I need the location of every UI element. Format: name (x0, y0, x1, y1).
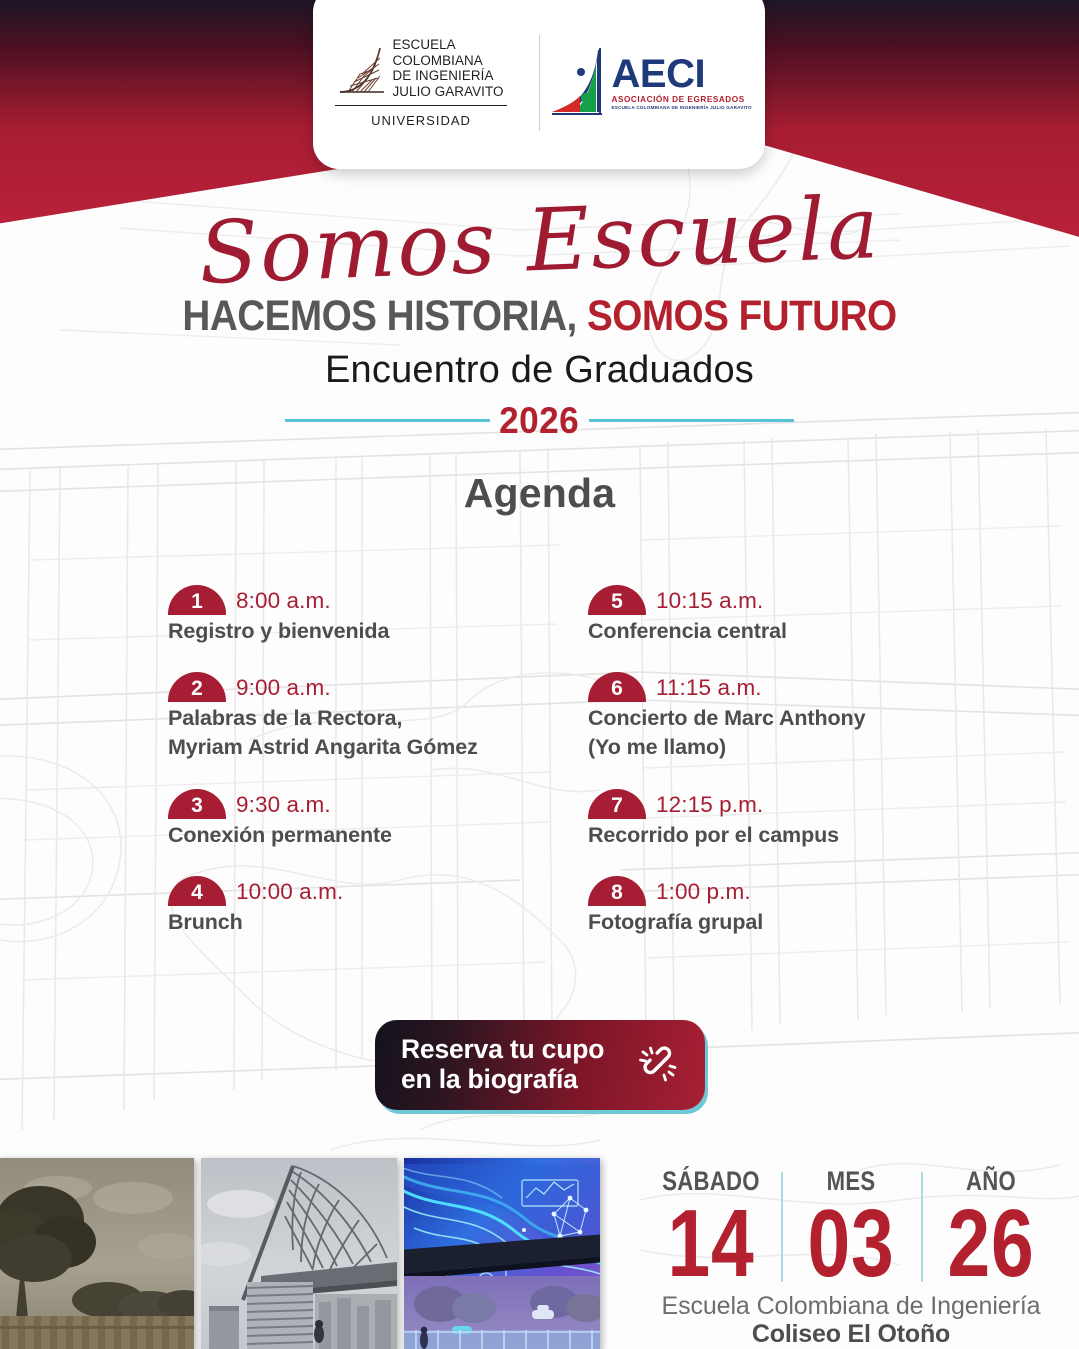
subtitle-grey: HACEMOS HISTORIA, (182, 292, 576, 340)
year-row: 2026 (0, 400, 1079, 442)
venue-line2: Coliseo El Otoño (641, 1320, 1061, 1349)
agenda-time: 1:00 p.m. (656, 879, 751, 906)
agenda-desc: Brunch (168, 909, 588, 935)
eci-curve-grid-icon (338, 44, 386, 100)
association-acronym: AECI (612, 54, 752, 94)
date-cell-month: MES 03 (781, 1168, 921, 1290)
link-chain-icon (639, 1042, 683, 1086)
agenda-item: 3 9:30 a.m. Conexión permanente (168, 789, 588, 848)
agenda-time: 10:15 a.m. (656, 588, 763, 615)
event-name: Encuentro de Graduados (0, 349, 1079, 392)
agenda-number-badge: 8 (588, 876, 646, 906)
aeci-figure-icon (550, 46, 608, 120)
university-line1: ESCUELA (392, 37, 503, 53)
cta-line1: Reserva tu cupo (401, 1034, 604, 1064)
agenda-heading: Agenda (0, 470, 1079, 517)
year-value: 2026 (493, 400, 586, 442)
association-sub2: ESCUELA COLOMBIANA DE INGENIERÍA JULIO G… (612, 106, 752, 111)
agenda-desc: Concierto de Marc Anthony (588, 705, 928, 731)
month-value: 03 (795, 1197, 907, 1290)
agenda-time: 8:00 a.m. (236, 588, 331, 615)
agenda-desc: Palabras de la Rectora, (168, 705, 588, 731)
university-line4: JULIO GARAVITO (392, 84, 503, 100)
agenda-number-badge: 7 (588, 789, 646, 819)
agenda-desc-2: Myriam Astrid Angarita Gómez (168, 734, 588, 760)
agenda-item: 6 11:15 a.m. Concierto de Marc Anthony (… (588, 672, 928, 760)
agenda-time: 10:00 a.m. (236, 879, 343, 906)
cta-line2: en la biografía (401, 1064, 604, 1094)
agenda-time: 9:00 a.m. (236, 675, 331, 702)
agenda-time: 11:15 a.m. (656, 675, 762, 702)
agenda-item: 2 9:00 a.m. Palabras de la Rectora, Myri… (168, 672, 588, 760)
agenda-time: 12:15 p.m. (656, 792, 763, 819)
agenda-item: 5 10:15 a.m. Conferencia central (588, 585, 928, 644)
date-cell-year: AÑO 26 (921, 1168, 1061, 1290)
agenda-number-badge: 4 (168, 876, 226, 906)
subtitle-line: HACEMOS HISTORIA, SOMOS FUTURO (54, 292, 1025, 341)
agenda-number-badge: 6 (588, 672, 646, 702)
modern-campus-building-photo (201, 1158, 397, 1349)
agenda-number-badge: 3 (168, 789, 226, 819)
date-cells: SÁBADO 14 MES 03 AÑO 26 (641, 1168, 1061, 1290)
agenda-item: 1 8:00 a.m. Registro y bienvenida (168, 585, 588, 644)
subtitle-red: SOMOS FUTURO (587, 292, 897, 340)
association-sub1: ASOCIACIÓN DE EGRESADOS (612, 96, 752, 104)
script-title: Somos Escuela (197, 185, 881, 299)
reserve-spot-button[interactable]: Reserva tu cupo en la biografía (375, 1020, 705, 1110)
agenda-item: 4 10:00 a.m. Brunch (168, 876, 588, 935)
day-value: 14 (655, 1197, 767, 1290)
agenda-number-badge: 1 (168, 585, 226, 615)
date-cell-day: SÁBADO 14 (641, 1168, 781, 1290)
agenda-grid: 1 8:00 a.m. Registro y bienvenida 2 9:00… (168, 585, 928, 963)
agenda-column-right: 5 10:15 a.m. Conferencia central 6 11:15… (588, 585, 928, 963)
cta-wrapper: Reserva tu cupo en la biografía (375, 1020, 705, 1110)
vintage-campus-tree-photo (0, 1158, 194, 1349)
logo-card: ESCUELA COLOMBIANA DE INGENIERÍA JULIO G… (313, 0, 765, 169)
agenda-desc-2: (Yo me llamo) (588, 734, 928, 760)
agenda-desc: Recorrido por el campus (588, 822, 928, 848)
university-logo: ESCUELA COLOMBIANA DE INGENIERÍA JULIO G… (314, 37, 529, 129)
futuristic-neon-campus-photo (404, 1158, 600, 1349)
year-line-left (285, 419, 490, 423)
year-value-bottom: 26 (935, 1197, 1047, 1290)
agenda-number-badge: 2 (168, 672, 226, 702)
agenda-number-badge: 5 (588, 585, 646, 615)
year-line-right (589, 419, 794, 423)
logo-divider (539, 35, 540, 131)
agenda-time: 9:30 a.m. (236, 792, 331, 819)
university-name: ESCUELA COLOMBIANA DE INGENIERÍA JULIO G… (392, 37, 503, 100)
headline-block: Somos Escuela HACEMOS HISTORIA, SOMOS FU… (0, 198, 1079, 517)
event-poster: ESCUELA COLOMBIANA DE INGENIERÍA JULIO G… (0, 0, 1079, 1349)
logo-rule (335, 105, 507, 106)
university-line3: DE INGENIERÍA (392, 68, 503, 84)
agenda-desc: Conferencia central (588, 618, 928, 644)
agenda-desc: Conexión permanente (168, 822, 588, 848)
photo-strip (0, 1158, 600, 1349)
agenda-item: 8 1:00 p.m. Fotografía grupal (588, 876, 928, 935)
event-date-block: SÁBADO 14 MES 03 AÑO 26 Escuela Colombia… (641, 1168, 1061, 1349)
agenda-desc: Registro y bienvenida (168, 618, 588, 644)
agenda-item: 7 12:15 p.m. Recorrido por el campus (588, 789, 928, 848)
university-tagline: UNIVERSIDAD (371, 113, 471, 128)
agenda-column-left: 1 8:00 a.m. Registro y bienvenida 2 9:00… (168, 585, 588, 963)
association-logo: AECI ASOCIACIÓN DE EGRESADOS ESCUELA COL… (550, 46, 765, 120)
agenda-desc: Fotografía grupal (588, 909, 928, 935)
university-line2: COLOMBIANA (392, 53, 503, 69)
